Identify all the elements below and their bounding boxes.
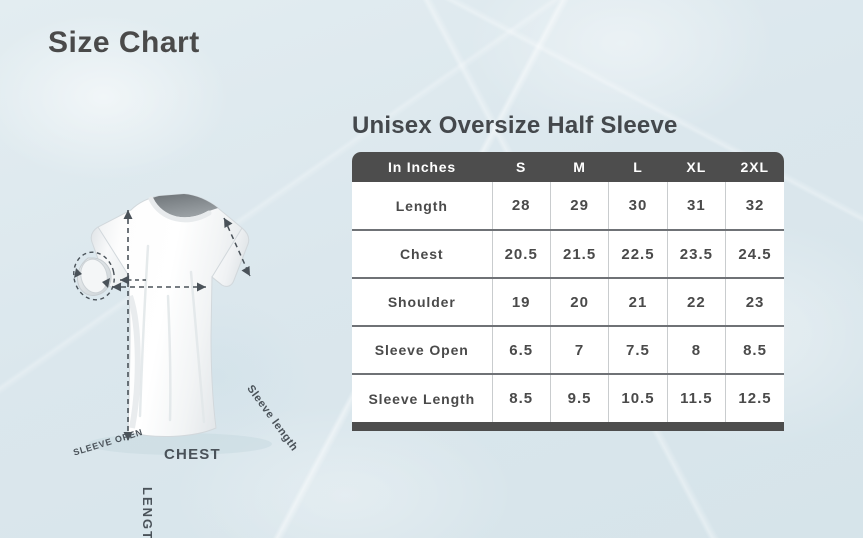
cell-sleeve-open-l: 7.5 [609,326,667,374]
cell-sleeve-length-l: 10.5 [609,374,667,422]
cell-chest-m: 21.5 [550,230,608,278]
cell-sleeve-open-s: 6.5 [492,326,550,374]
cell-length-s: 28 [492,182,550,230]
cell-chest-l: 22.5 [609,230,667,278]
row-label-shoulder: Shoulder [352,278,492,326]
table-row: Length 28 29 30 31 32 [352,182,784,230]
column-header-s: S [492,152,550,182]
size-table: In Inches S M L XL 2XL Length 28 29 30 3… [352,152,784,422]
table-row: Sleeve Open 6.5 7 7.5 8 8.5 [352,326,784,374]
table-row: Shoulder 19 20 21 22 23 [352,278,784,326]
table-row: Chest 20.5 21.5 22.5 23.5 24.5 [352,230,784,278]
cell-sleeve-length-2xl: 12.5 [726,374,784,422]
length-dimension-label: LENGTH [140,487,155,538]
cell-sleeve-length-xl: 11.5 [667,374,725,422]
page-title: Size Chart [48,26,200,60]
size-table-title: Unisex Oversize Half Sleeve [352,112,784,140]
cell-shoulder-2xl: 23 [726,278,784,326]
cell-shoulder-s: 19 [492,278,550,326]
cell-sleeve-open-xl: 8 [667,326,725,374]
cell-chest-s: 20.5 [492,230,550,278]
row-label-chest: Chest [352,230,492,278]
row-label-sleeve-open: Sleeve Open [352,326,492,374]
column-header-m: M [550,152,608,182]
cell-chest-xl: 23.5 [667,230,725,278]
cell-length-l: 30 [609,182,667,230]
cell-shoulder-l: 21 [609,278,667,326]
cell-sleeve-length-m: 9.5 [550,374,608,422]
cell-length-2xl: 32 [726,182,784,230]
cell-length-m: 29 [550,182,608,230]
table-header-row: In Inches S M L XL 2XL [352,152,784,182]
row-label-sleeve-length: Sleeve Length [352,374,492,422]
cell-sleeve-open-2xl: 8.5 [726,326,784,374]
cell-sleeve-open-m: 7 [550,326,608,374]
table-footer-bar [352,422,784,431]
column-header-l: L [609,152,667,182]
row-label-length: Length [352,182,492,230]
cell-length-xl: 31 [667,182,725,230]
cell-shoulder-xl: 22 [667,278,725,326]
tshirt-svg [28,176,328,476]
column-header-2xl: 2XL [726,152,784,182]
cell-sleeve-length-s: 8.5 [492,374,550,422]
table-row: Sleeve Length 8.5 9.5 10.5 11.5 12.5 [352,374,784,422]
cell-shoulder-m: 20 [550,278,608,326]
tshirt-illustration: CHEST LENGTH Sleeve length SLEEVE OPEN [28,176,328,476]
size-table-block: Unisex Oversize Half Sleeve In Inches S … [352,112,784,431]
cell-chest-2xl: 24.5 [726,230,784,278]
column-header-xl: XL [667,152,725,182]
column-header-in-inches: In Inches [352,152,492,182]
